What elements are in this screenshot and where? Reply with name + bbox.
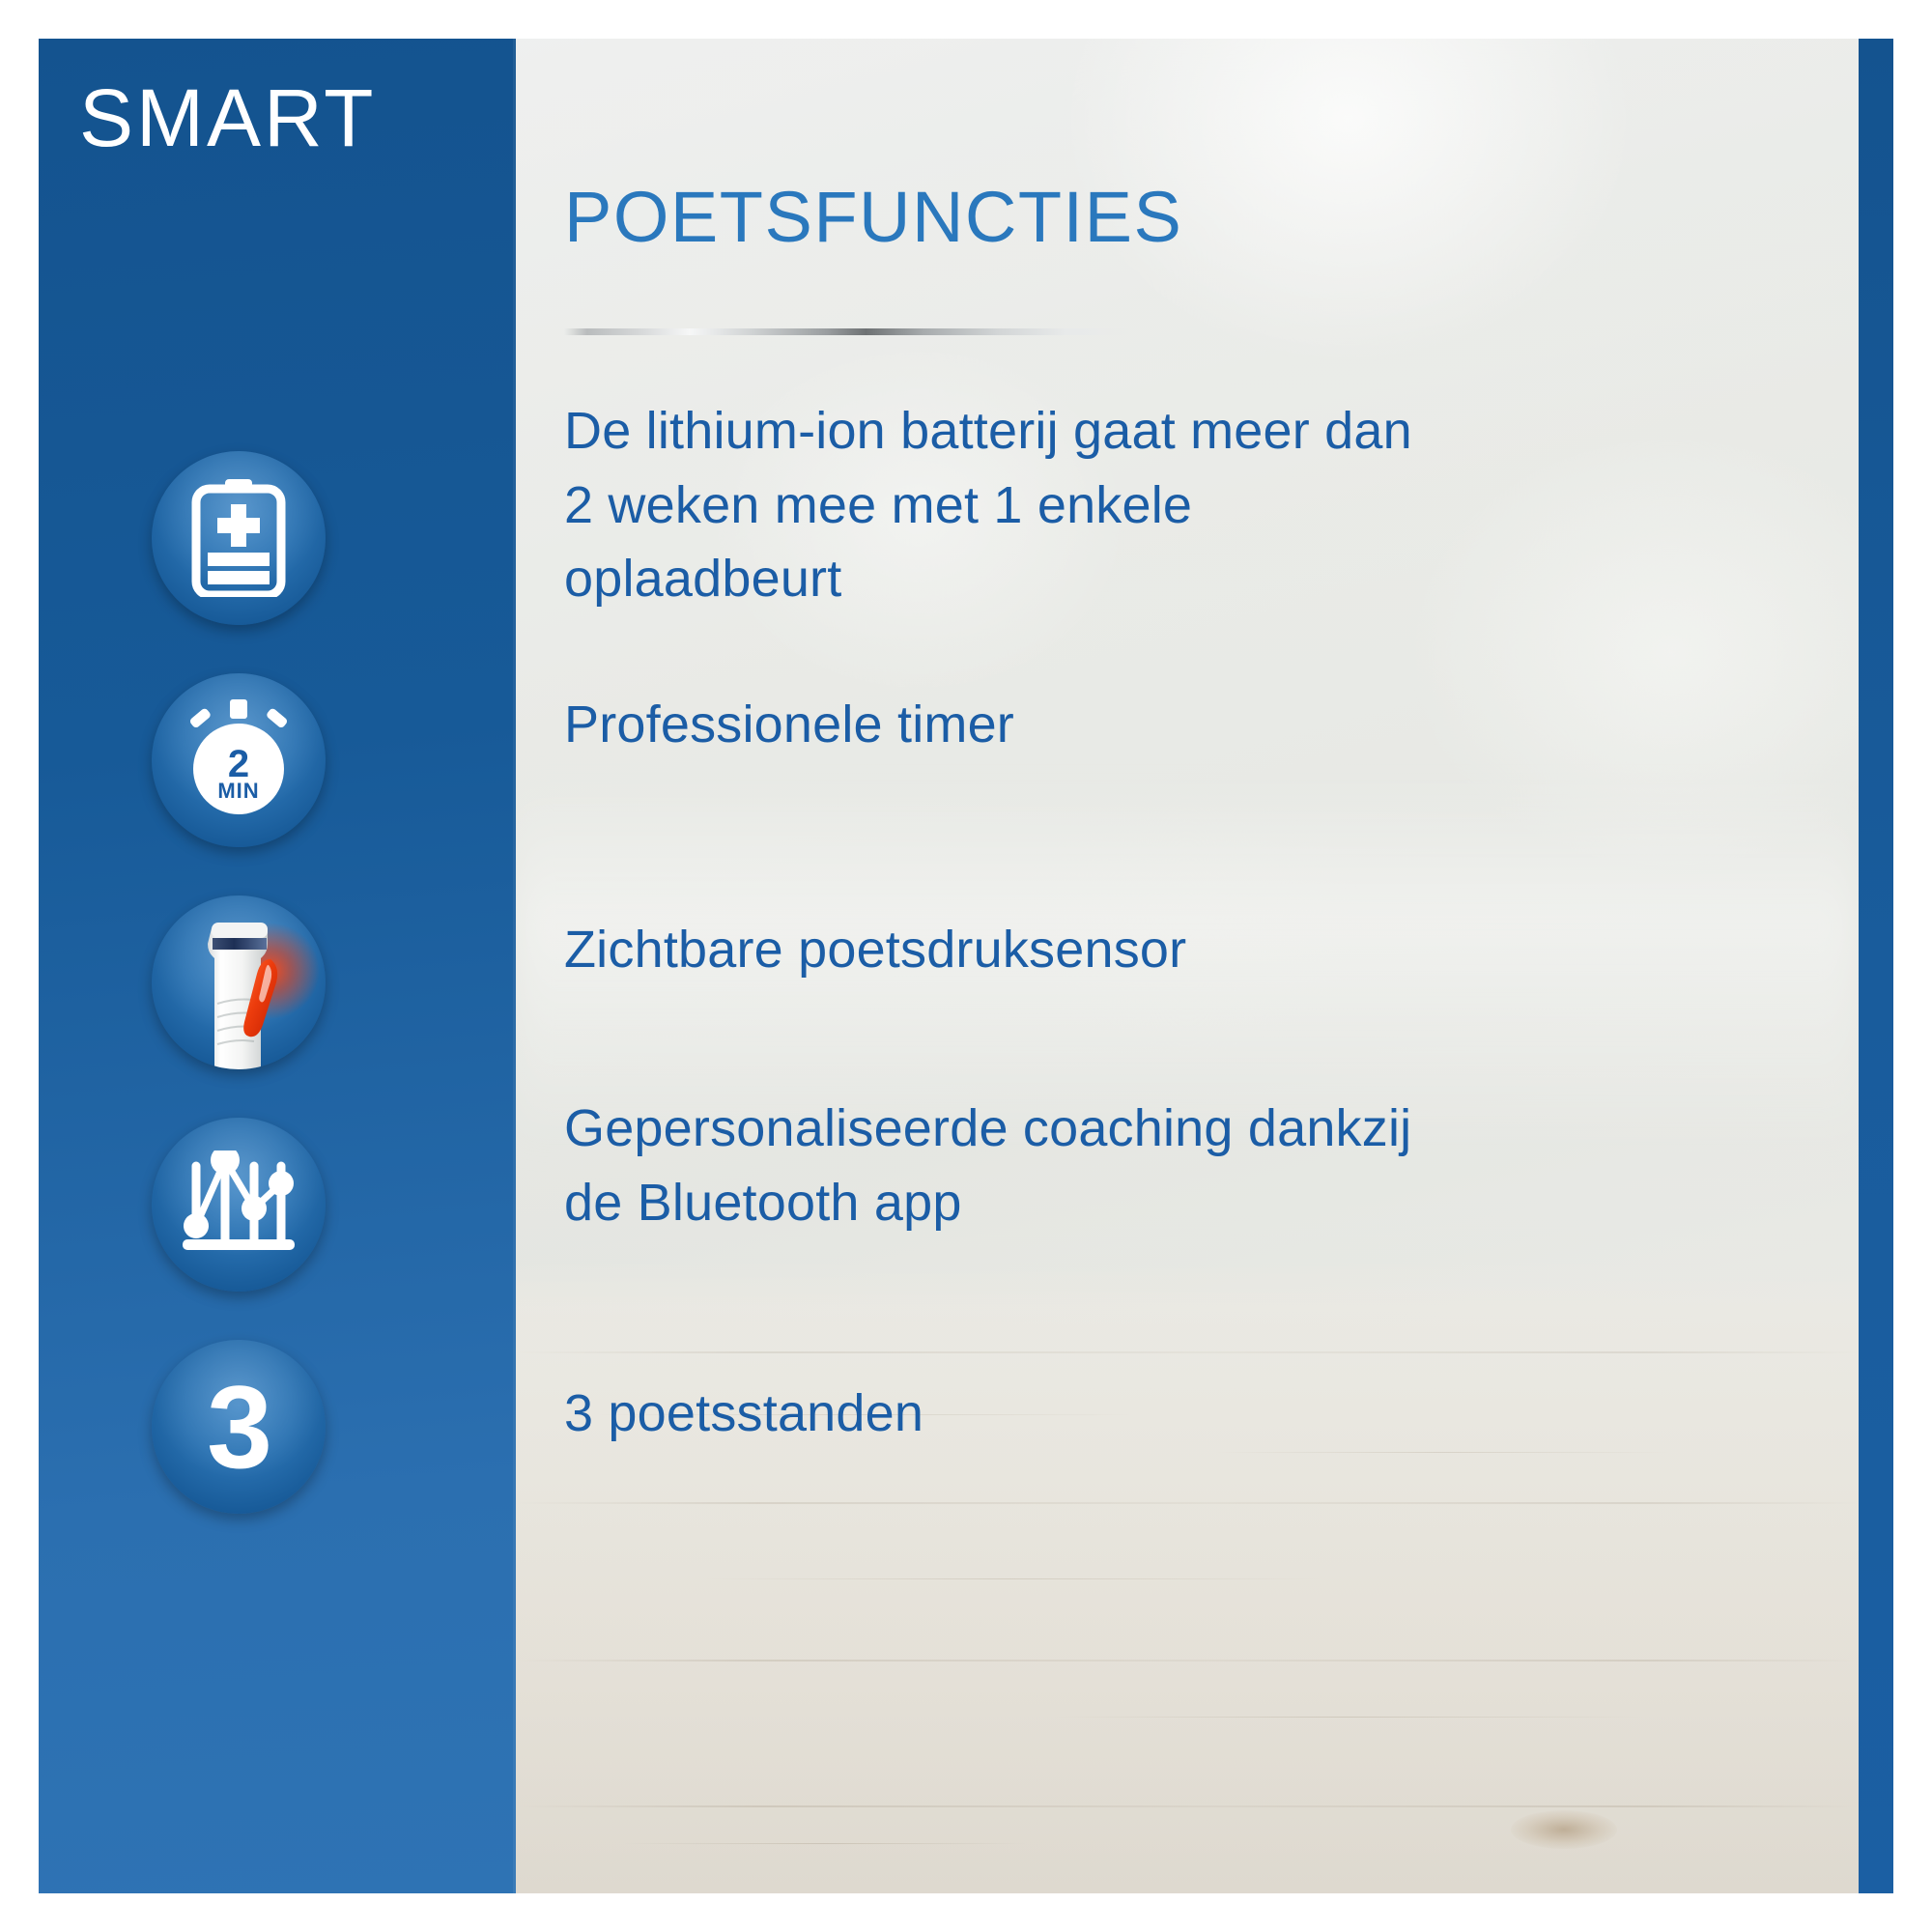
modes-number-value: 3 [207, 1368, 270, 1486]
feature-text-pressure-sensor: Zichtbare poetsdruksensor [564, 913, 1434, 987]
feature-text-timer: Professionele timer [564, 688, 1434, 762]
page-title: POETSFUNCTIES [564, 182, 1182, 253]
stopwatch-unit: MIN [217, 779, 259, 803]
pressure-sensor-icon [152, 895, 326, 1069]
coaching-chart-icon [152, 1118, 326, 1292]
feature-text-coaching: Gepersonaliseerde coaching dankzij de Bl… [564, 1092, 1434, 1239]
stopwatch-timer-icon: 2 MIN [152, 673, 326, 847]
smart-heading: SMART [79, 77, 376, 158]
poster-frame: SMART [39, 39, 1893, 1893]
modes-number-icon: 3 [152, 1340, 326, 1514]
feature-text-battery: De lithium-ion batterij gaat meer dan 2 … [564, 394, 1434, 616]
feature-text-modes: 3 poetsstanden [564, 1377, 1434, 1451]
battery-icon [152, 451, 326, 625]
content-panel: POETSFUNCTIES De lithium-ion batterij ga… [516, 39, 1859, 1893]
right-edge-accent-bar [1859, 39, 1893, 1893]
poster-root: SMART [0, 0, 1932, 1932]
title-divider [564, 328, 1134, 335]
sidebar: SMART [39, 39, 516, 1893]
